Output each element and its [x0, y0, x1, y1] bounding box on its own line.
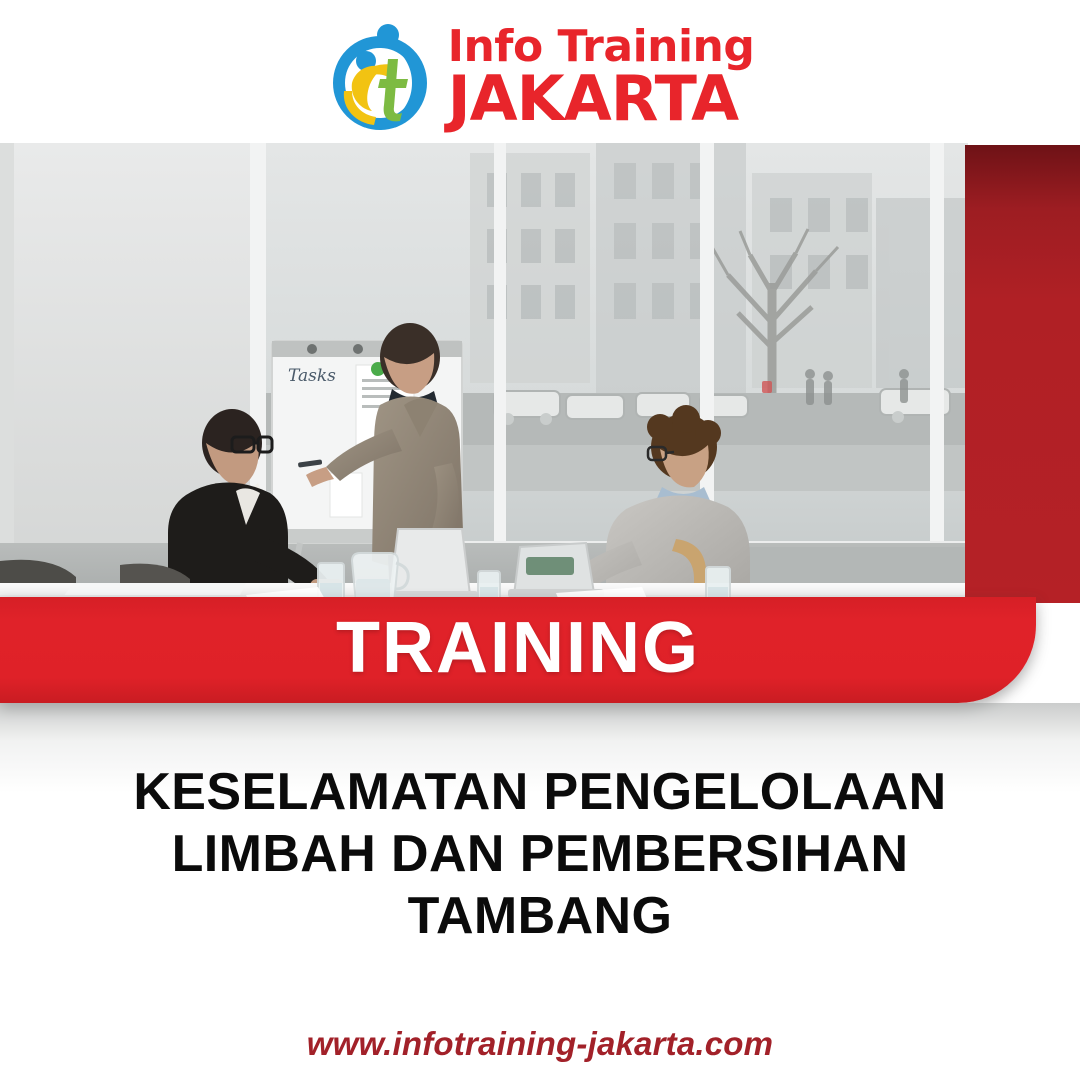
page-title: KESELAMATAN PENGELOLAAN LIMBAH DAN PEMBE… — [60, 762, 1020, 948]
brand-logo[interactable]: Info Training JAKARTA — [0, 14, 1080, 140]
it-circle-logo-icon — [326, 21, 438, 133]
brand-line-jakarta: JAKARTA — [448, 70, 739, 128]
brand-wordmark: Info Training JAKARTA — [448, 26, 755, 128]
red-side-strip — [965, 145, 1080, 603]
title-line-2: LIMBAH DAN PEMBERSIHAN — [60, 824, 1020, 886]
title-line-3: TAMBANG — [60, 886, 1020, 948]
business-training-meeting-photo: Tasks — [0, 143, 968, 603]
title-line-1: KESELAMATAN PENGELOLAAN — [60, 762, 1020, 824]
website-url[interactable]: www.infotraining-jakarta.com — [0, 1025, 1080, 1063]
training-poster: Info Training JAKARTA — [0, 0, 1080, 1080]
training-banner: TRAINING — [0, 597, 1036, 703]
svg-text:Tasks: Tasks — [288, 366, 336, 386]
banner-label: TRAINING — [336, 612, 700, 688]
